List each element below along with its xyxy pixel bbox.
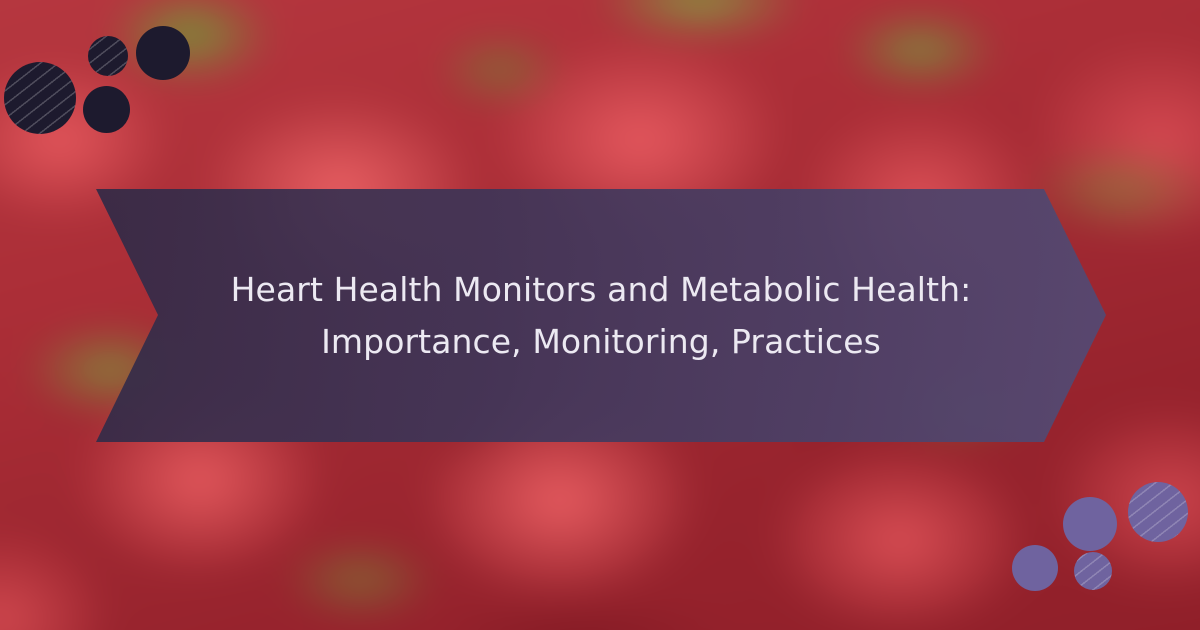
page-title-line-2: Importance, Monitoring, Practices [201,316,1001,368]
decorative-striped-circle-icon [1128,482,1188,542]
decorative-solid-circle-icon [136,26,190,80]
page-title-line-1: Heart Health Monitors and Metabolic Heal… [201,264,1001,316]
stripe-pattern [4,62,76,134]
decorative-striped-circle-icon [1074,552,1112,590]
decorative-striped-circle-icon [88,36,128,76]
decorative-solid-circle-icon [1063,497,1117,551]
decorative-solid-circle-icon [83,86,130,133]
decorative-solid-circle-icon [1012,545,1058,591]
page-title: Heart Health Monitors and Metabolic Heal… [201,264,1001,368]
stripe-pattern [1074,552,1112,590]
decorative-striped-circle-icon [4,62,76,134]
stripe-pattern [1128,482,1188,542]
title-banner: Heart Health Monitors and Metabolic Heal… [96,189,1106,442]
stripe-pattern [88,36,128,76]
